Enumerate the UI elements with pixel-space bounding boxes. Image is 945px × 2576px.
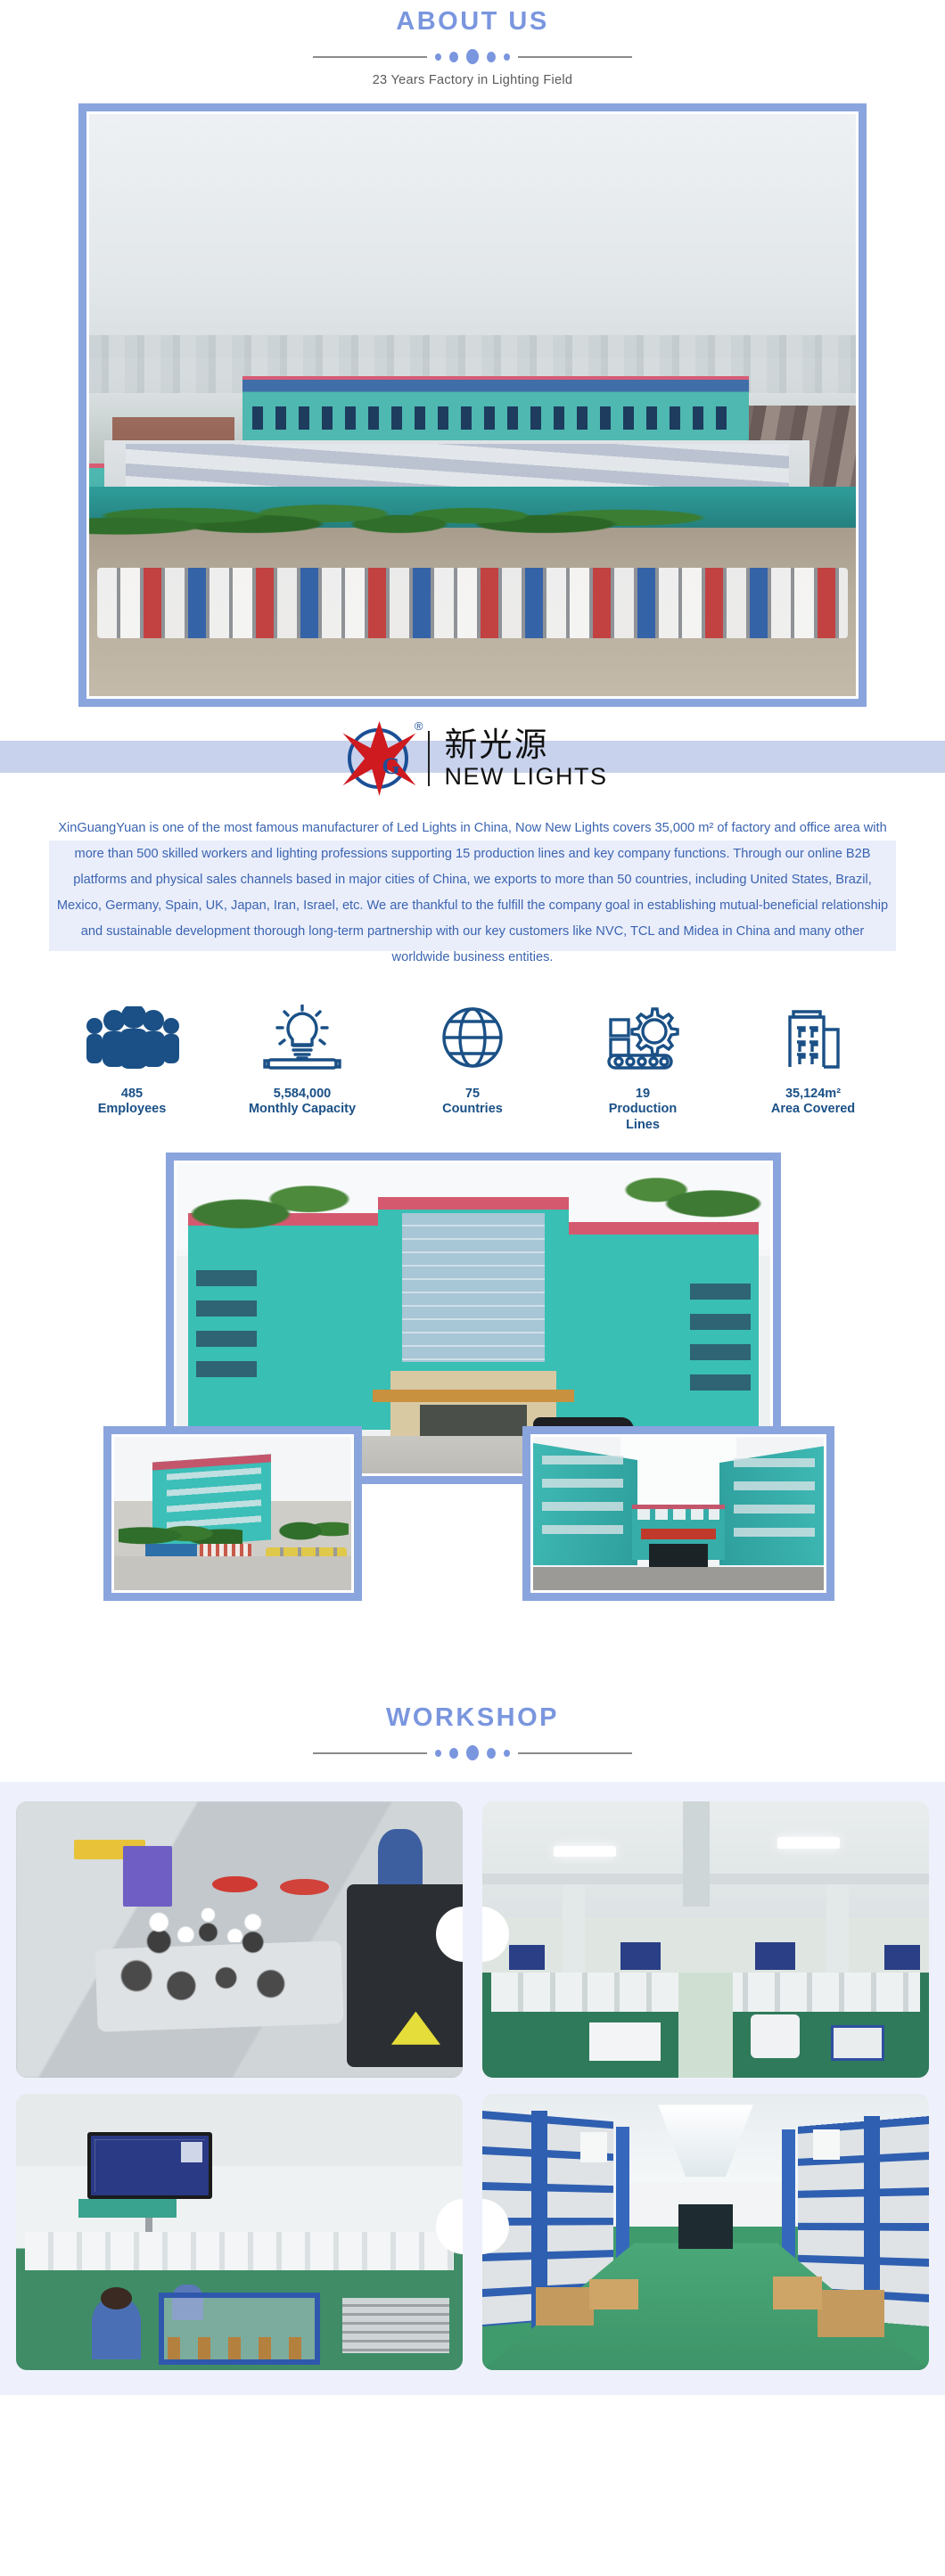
conveyor-fixtures (168, 2337, 310, 2359)
divider-line-left (313, 1752, 427, 1754)
divider-dot-2 (449, 1748, 458, 1759)
sky-region (89, 114, 856, 358)
stat-label: Area Covered (733, 1101, 893, 1117)
divider-dot-5 (504, 53, 510, 61)
stat-countries: 75 Countries (392, 1003, 553, 1133)
about-subtitle: 23 Years Factory in Lighting Field (0, 73, 945, 87)
material-trolley (751, 2014, 800, 2059)
white-bulb-caps (105, 1892, 329, 1942)
office-right-wing (556, 1222, 758, 1430)
divider-dot-3 (466, 49, 479, 64)
about-us-page: ABOUT US 23 Years Factory in Lighting Fi… (0, 0, 945, 2395)
new-lights-logo-icon: G ® (337, 718, 419, 800)
divider-dot-3 (466, 1745, 479, 1760)
carton-left-2 (589, 2279, 638, 2309)
support-column-right (826, 1884, 849, 1984)
stat-employees: 485 Employees (52, 1003, 212, 1133)
assembly-line-sign (78, 2199, 177, 2219)
tree-row (89, 464, 718, 569)
ceiling-light-1 (554, 1846, 616, 1857)
left-wing-windows (196, 1270, 257, 1389)
ceiling-beam-vertical (683, 1801, 710, 1907)
workshop-photo-grid (16, 1801, 929, 2370)
factory-courtyard-photo-frame (522, 1426, 834, 1601)
road-surface (114, 1556, 351, 1590)
workshop-title: WORKSHOP (0, 1703, 945, 1733)
courtyard-ground (533, 1567, 824, 1590)
globe-icon (392, 1003, 553, 1072)
rear-block-windows (637, 1509, 719, 1520)
side-storage-rack (342, 2298, 449, 2353)
divider-dot-4 (487, 52, 496, 62)
operator-figure (378, 1829, 423, 1884)
line-monitor-4 (884, 1945, 920, 1970)
blue-frame-cart (831, 2025, 884, 2061)
aisle-far-end (678, 2204, 732, 2249)
tree-left (177, 1169, 390, 1244)
tree-right (580, 1166, 770, 1235)
aerial-factory-photo (89, 114, 856, 696)
warehouse-aisle-photo (482, 2094, 929, 2370)
buildings-icon (733, 1003, 893, 1072)
led-bulb-assembly-fixture-photo (16, 1801, 463, 2078)
stat-value: 5,584,000 (222, 1087, 382, 1101)
stat-label: Countries (392, 1101, 553, 1117)
stat-production-lines: 19 Production Lines (563, 1003, 723, 1133)
carton-right-2 (773, 2277, 822, 2309)
stat-value: 35,124m² (733, 1087, 893, 1101)
logo-separator (428, 731, 430, 786)
line-monitor-2 (620, 1942, 661, 1970)
main-workshop-hall (242, 376, 749, 446)
entrance-doors (420, 1405, 527, 1439)
people-group-icon (52, 1003, 212, 1072)
logo-english-name: NEW LIGHTS (444, 765, 607, 789)
carton-right-1 (818, 2290, 884, 2337)
page-title: ABOUT US (0, 7, 945, 37)
material-stack-1 (589, 2022, 661, 2061)
entrance-canopy (373, 1390, 574, 1402)
stat-value: 485 (52, 1087, 212, 1101)
company-description-block: XinGuangYuan is one of the most famous m… (0, 810, 945, 971)
red-slogan-banner (641, 1529, 717, 1539)
tree-row-right (268, 1511, 349, 1547)
worker-head (101, 2287, 132, 2309)
workshop-section-header: WORKSHOP (0, 1669, 945, 1760)
divider-line-left (313, 56, 427, 58)
company-logo-band: G ® 新光源 NEW LIGHTS (0, 707, 945, 810)
dashboard-video-tile (181, 2142, 202, 2162)
right-wing-windows (690, 1284, 751, 1391)
about-section-header: ABOUT US 23 Years Factory in Lighting Fi… (0, 0, 945, 87)
logo-chinese-name: 新光源 (444, 728, 607, 761)
conveyor-gear-icon (563, 1003, 723, 1072)
building-photo-collage (0, 1153, 945, 1669)
led-assembly-line-photo (16, 2094, 463, 2370)
divider-dot-1 (435, 1750, 441, 1757)
factory-entrance-photo-frame (103, 1426, 362, 1601)
passage-opening (649, 1544, 707, 1569)
parked-cars-row (97, 568, 849, 637)
divider-line-right (518, 1752, 632, 1754)
company-stats-row: 485 Employees 5,584,000 Monthly Capacity (0, 971, 945, 1133)
left-block-windows (542, 1456, 623, 1541)
divider-dot-1 (435, 53, 441, 61)
factory-courtyard-photo (533, 1437, 824, 1590)
office-left-wing (188, 1213, 390, 1431)
registered-trademark-icon: ® (415, 719, 423, 733)
stat-value: 75 (392, 1087, 553, 1101)
stat-area-covered: 35,124m² Area Covered (733, 1003, 893, 1133)
carton-left-1 (536, 2287, 594, 2326)
about-divider (0, 49, 945, 64)
lightbulb-tube-icon (222, 1003, 382, 1072)
support-column-left (563, 1884, 585, 1984)
stat-monthly-capacity: 5,584,000 Monthly Capacity (222, 1003, 382, 1133)
workshop-photo-section (0, 1782, 945, 2395)
production-dashboard-monitor (87, 2132, 212, 2198)
rack-label-left (580, 2132, 607, 2162)
divider-dot-4 (487, 1748, 496, 1759)
company-description-text: XinGuangYuan is one of the most famous m… (53, 816, 892, 971)
stat-label: Employees (52, 1101, 212, 1117)
line-monitor-3 (755, 1942, 795, 1970)
workshop-divider (0, 1745, 945, 1760)
central-aisle (678, 1973, 732, 2078)
assembly-line-benches (25, 2232, 454, 2270)
divider-dot-2 (449, 52, 458, 62)
stat-label: Production Lines (563, 1101, 723, 1133)
stat-value: 19 (563, 1087, 723, 1101)
divider-dot-5 (504, 1750, 510, 1757)
ceiling-region (16, 2094, 463, 2166)
ceiling-light-2 (777, 1837, 840, 1848)
production-floor-photo (482, 1801, 929, 2078)
red-tray-1 (212, 1876, 257, 1893)
stat-label: Monthly Capacity (222, 1101, 382, 1117)
glass-curtain-wall (402, 1213, 545, 1362)
right-block-windows (734, 1458, 815, 1541)
workshop-hall-windows (252, 406, 738, 430)
factory-entrance-photo (114, 1437, 351, 1590)
rack-label-right (813, 2129, 840, 2160)
aerial-factory-photo-frame (78, 103, 867, 707)
line-monitor-1 (509, 1945, 545, 1970)
logo-letter-g: G (382, 753, 399, 780)
divider-line-right (518, 56, 632, 58)
